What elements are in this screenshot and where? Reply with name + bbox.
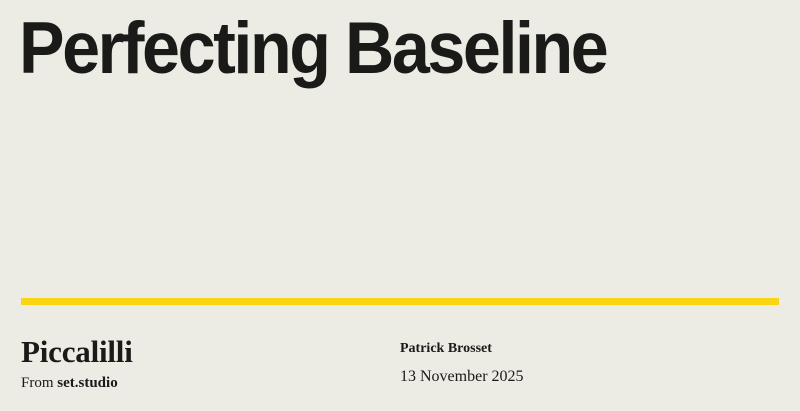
brand-attribution-prefix: From: [21, 375, 54, 391]
slide-footer: Piccalilli From set.studio Patrick Bross…: [0, 330, 800, 411]
title-area: Perfecting Baseline: [19, 14, 780, 84]
author-name: Patrick Brosset: [400, 330, 524, 356]
accent-divider: [21, 298, 779, 305]
brand-attribution: From set.studio: [21, 367, 133, 391]
footer-brand-column: Piccalilli From set.studio: [21, 330, 133, 391]
page-title: Perfecting Baseline: [19, 14, 731, 84]
presentation-date: 13 November 2025: [400, 356, 524, 385]
presentation-slide: Perfecting Baseline Piccalilli From set.…: [0, 0, 800, 411]
brand-wordmark: Piccalilli: [21, 330, 133, 367]
footer-meta-column: Patrick Brosset 13 November 2025: [400, 330, 524, 385]
brand-attribution-studio: set.studio: [57, 375, 117, 391]
